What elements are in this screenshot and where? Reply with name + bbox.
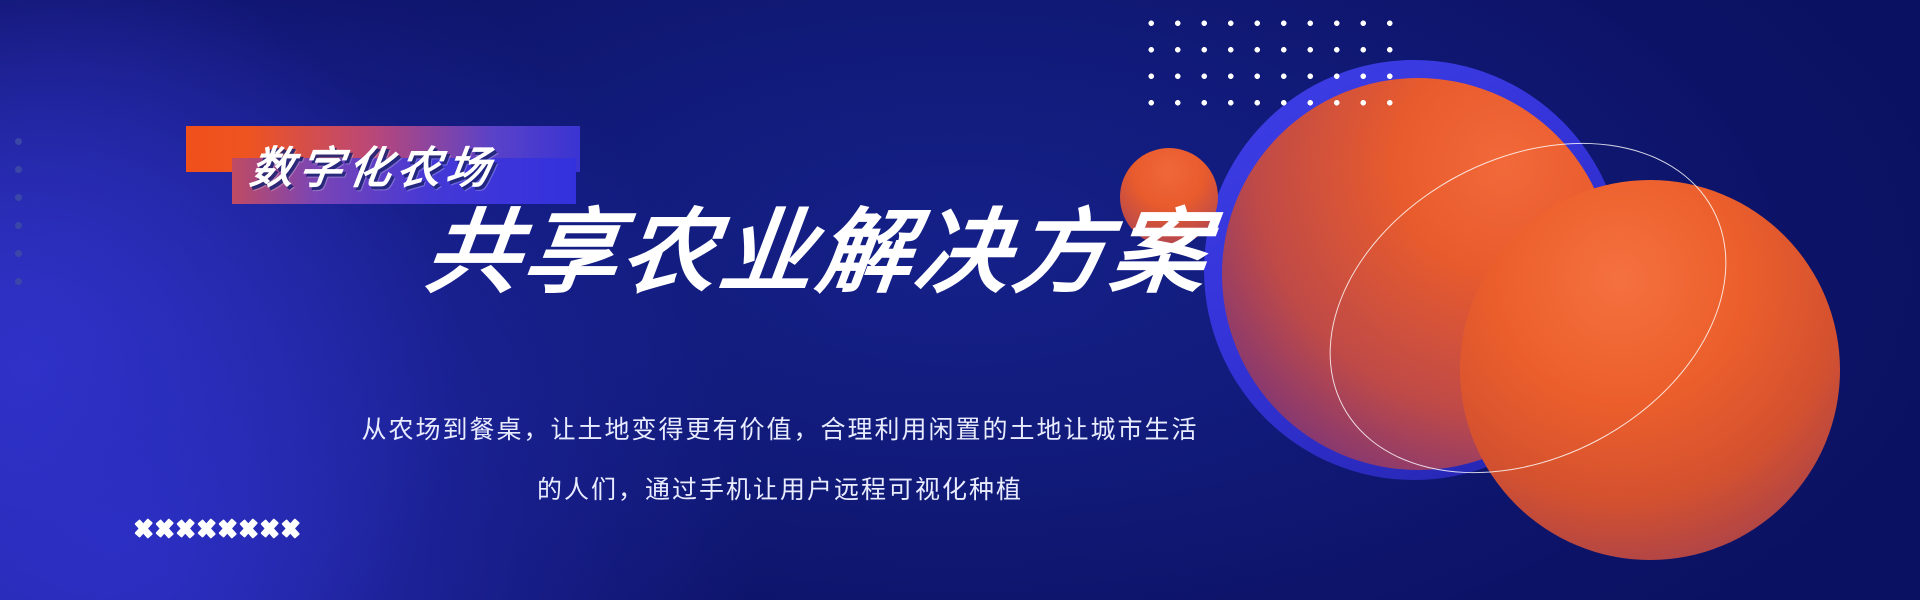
promo-banner: 数字化农场 共享农业解决方案 从农场到餐桌，让土地变得更有价值，合理利用闲置的土… bbox=[0, 0, 1920, 600]
chevron-left-icon bbox=[239, 508, 260, 552]
decor-dot bbox=[15, 278, 22, 285]
page-title: 共享农业解决方案 bbox=[420, 204, 1216, 303]
decor-dot bbox=[15, 250, 22, 257]
chevron-left-icon bbox=[260, 508, 281, 552]
chevron-left-icon bbox=[281, 508, 302, 552]
dot-grid-pattern bbox=[1136, 8, 1396, 120]
left-dot-column bbox=[15, 138, 22, 285]
tag-badge: 数字化农场 bbox=[186, 126, 606, 204]
tag-label: 数字化农场 bbox=[247, 147, 498, 191]
chevron-left-icon bbox=[155, 508, 176, 552]
chevron-left-decoration bbox=[134, 508, 302, 552]
decor-dot bbox=[15, 138, 22, 145]
subtitle-line-1: 从农场到餐桌，让土地变得更有价值，合理利用闲置的土地让城市生活 bbox=[0, 400, 1560, 460]
chevron-left-icon bbox=[197, 508, 218, 552]
decor-dot bbox=[15, 194, 22, 201]
subtitle: 从农场到餐桌，让土地变得更有价值，合理利用闲置的土地让城市生活 的人们，通过手机… bbox=[0, 400, 1560, 520]
decor-dot bbox=[15, 222, 22, 229]
chevron-left-icon bbox=[134, 508, 155, 552]
chevron-left-icon bbox=[176, 508, 197, 552]
decor-dot bbox=[15, 166, 22, 173]
chevron-left-icon bbox=[218, 508, 239, 552]
